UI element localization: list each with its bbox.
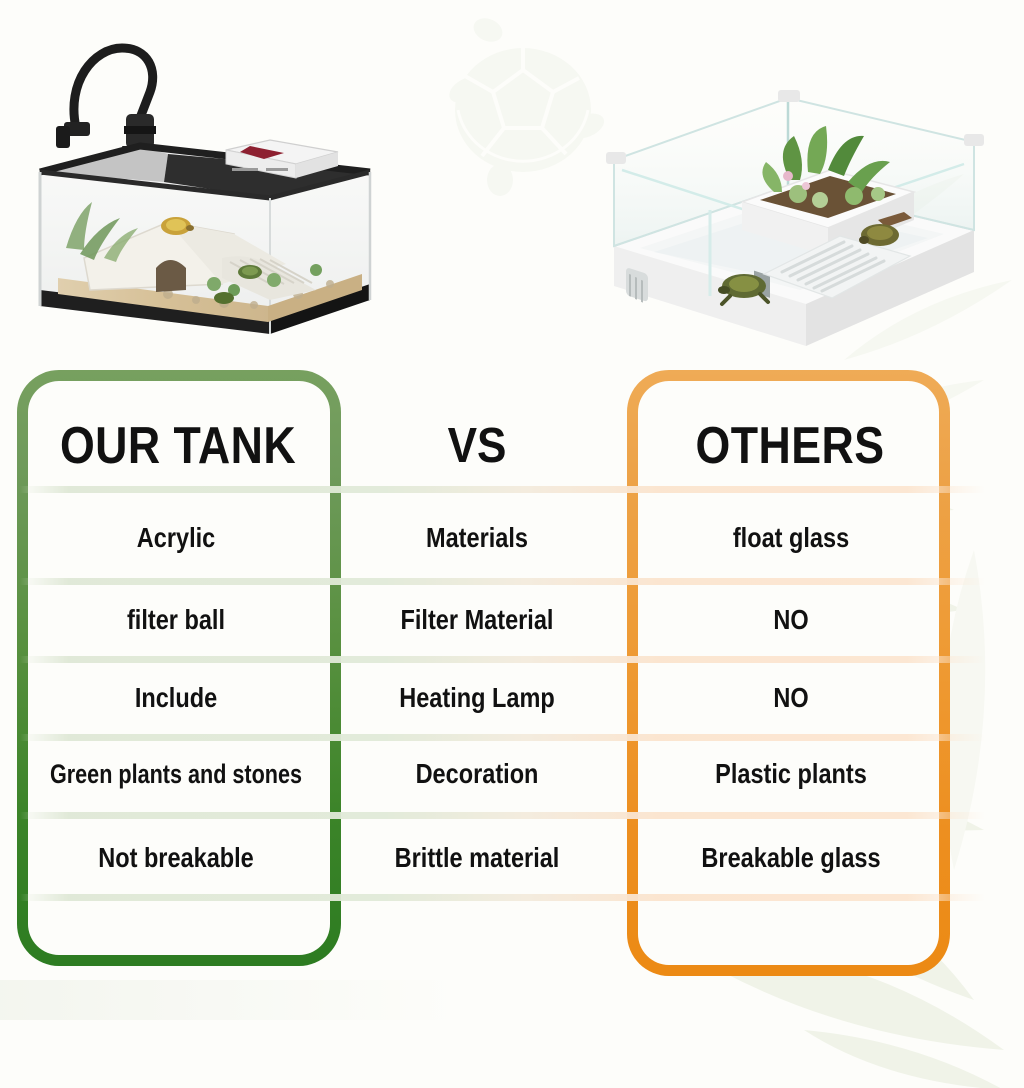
our-tank-photo [18,22,390,352]
cell-attribute: Materials [372,500,582,576]
table-row: filter ball Filter Material NO [0,582,1024,658]
comparison-table-section: OUR TANK VS OTHERS Acrylic Materials flo… [0,360,1024,1088]
cell-attribute: Brittle material [372,820,582,896]
table-row: Green plants and stones Decoration Plast… [0,736,1024,812]
row-divider [20,894,985,901]
product-images-section [0,0,1024,368]
cell-attribute: Decoration [372,736,582,812]
cell-ours: Not breakable [28,820,324,896]
cell-others: float glass [646,500,937,576]
others-title: OTHERS [644,400,936,492]
cell-attribute: Filter Material [372,582,582,658]
cell-ours: Include [28,660,324,736]
cell-others: NO [646,582,937,658]
table-row: Include Heating Lamp NO [0,660,1024,736]
row-divider [20,486,985,493]
cell-others: Plastic plants [646,736,937,812]
others-tank-photo [592,60,994,360]
our-tank-title: OUR TANK [32,400,324,492]
cell-attribute: Heating Lamp [372,660,582,736]
table-row: Not breakable Brittle material Breakable… [0,820,1024,896]
vs-label: VS [365,400,590,492]
cell-ours: Green plants and stones [35,736,317,812]
cell-ours: filter ball [28,582,324,658]
comparison-header-row: OUR TANK VS OTHERS [0,400,1024,492]
cell-others: Breakable glass [646,820,937,896]
table-row: Acrylic Materials float glass [0,500,1024,576]
cell-ours: Acrylic [28,500,324,576]
cell-others: NO [646,660,937,736]
row-divider [20,812,985,819]
